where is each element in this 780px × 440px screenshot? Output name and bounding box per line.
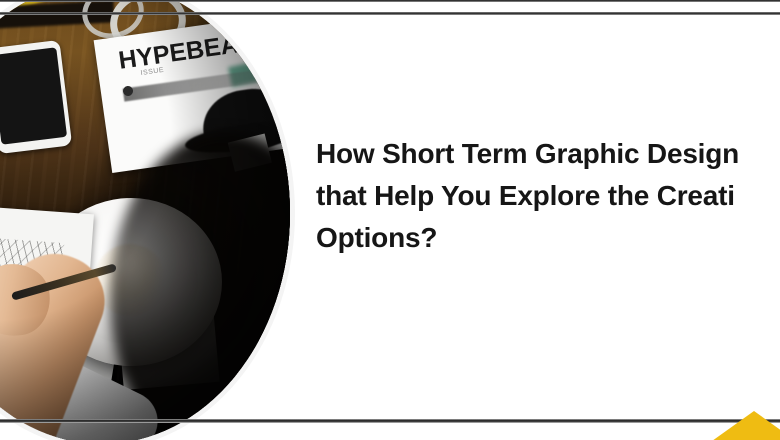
hero-photo: HYPEBEAS ISSUE [0,0,290,440]
bottom-rule [0,419,780,423]
smartphone [0,40,72,154]
slide-canvas: HYPEBEAS ISSUE [0,0,780,440]
page-title: How Short Term Graphic Design that Help … [316,133,780,259]
hero-photo-circle: HYPEBEAS ISSUE [0,0,290,440]
top-secondary-rule [0,12,780,15]
top-edge-rule [0,0,780,2]
gold-triangle-accent-icon [712,411,780,440]
smartphone-screen [0,47,67,144]
